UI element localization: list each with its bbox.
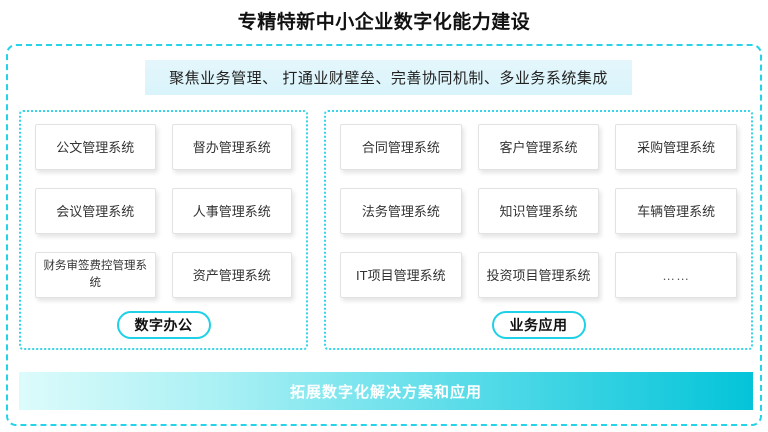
system-card[interactable]: 资产管理系统	[172, 252, 293, 298]
system-card[interactable]: 知识管理系统	[478, 188, 600, 234]
group-panel-digital-office: 公文管理系统 督办管理系统 会议管理系统 人事管理系统 财务审签费控管理系统 资…	[19, 110, 308, 350]
group-label-row-digital-office: 数字办公	[21, 311, 306, 339]
bottom-gradient-bar: 拓展数字化解决方案和应用	[19, 372, 753, 410]
system-card[interactable]: 合同管理系统	[340, 124, 462, 170]
group-panel-business-application: 合同管理系统 客户管理系统 采购管理系统 法务管理系统 知识管理系统 车辆管理系…	[324, 110, 753, 350]
group-label-row-business-application: 业务应用	[326, 311, 751, 339]
subtitle-banner-text: 聚焦业务管理、 打通业财壁垒、完善协同机制、多业务系统集成	[169, 67, 608, 88]
page-title: 专精特新中小企业数字化能力建设	[0, 10, 768, 36]
system-card[interactable]: 采购管理系统	[615, 124, 737, 170]
system-card[interactable]: 投资项目管理系统	[478, 252, 600, 298]
system-card[interactable]: 财务审签费控管理系统	[35, 252, 156, 298]
system-card[interactable]: 车辆管理系统	[615, 188, 737, 234]
system-card-more[interactable]: ……	[615, 252, 737, 298]
system-card[interactable]: 客户管理系统	[478, 124, 600, 170]
system-card[interactable]: 会议管理系统	[35, 188, 156, 234]
outer-dashed-frame: 聚焦业务管理、 打通业财壁垒、完善协同机制、多业务系统集成 公文管理系统 督办管…	[6, 44, 762, 426]
group-panels: 公文管理系统 督办管理系统 会议管理系统 人事管理系统 财务审签费控管理系统 资…	[19, 110, 753, 350]
card-grid-digital-office: 公文管理系统 督办管理系统 会议管理系统 人事管理系统 财务审签费控管理系统 资…	[35, 124, 292, 298]
subtitle-banner: 聚焦业务管理、 打通业财壁垒、完善协同机制、多业务系统集成	[145, 60, 632, 95]
system-card[interactable]: 人事管理系统	[172, 188, 293, 234]
system-card[interactable]: 督办管理系统	[172, 124, 293, 170]
system-card[interactable]: 法务管理系统	[340, 188, 462, 234]
card-grid-business-application: 合同管理系统 客户管理系统 采购管理系统 法务管理系统 知识管理系统 车辆管理系…	[340, 124, 737, 298]
bottom-bar-text: 拓展数字化解决方案和应用	[290, 381, 482, 402]
system-card[interactable]: 公文管理系统	[35, 124, 156, 170]
group-label-digital-office: 数字办公	[117, 311, 211, 339]
group-label-business-application: 业务应用	[492, 311, 586, 339]
system-card[interactable]: IT项目管理系统	[340, 252, 462, 298]
slide-root: 专精特新中小企业数字化能力建设 聚焦业务管理、 打通业财壁垒、完善协同机制、多业…	[0, 0, 768, 432]
